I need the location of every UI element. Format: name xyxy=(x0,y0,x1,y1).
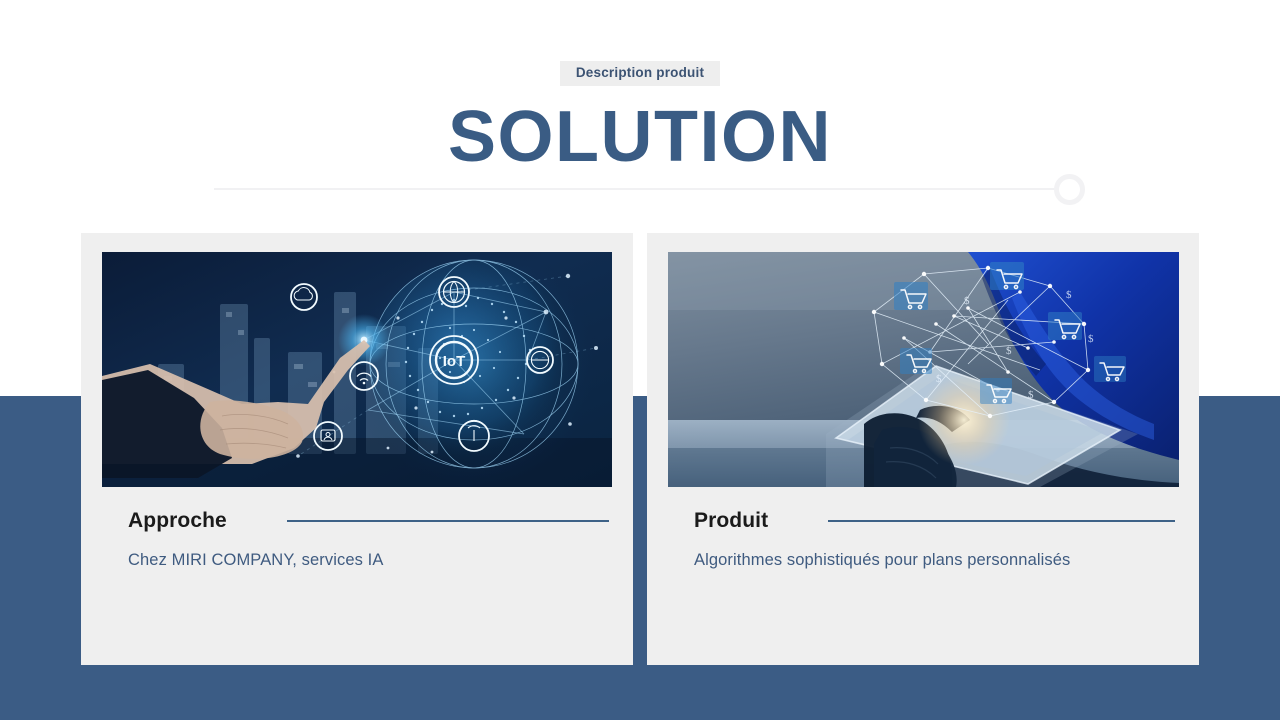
card-image-iot-globe: IoT xyxy=(102,252,612,487)
svg-text:IoT: IoT xyxy=(443,353,466,370)
card-approche[interactable]: IoT xyxy=(81,233,633,665)
iot-globe-illustration: IoT xyxy=(102,252,612,487)
card-body-produit: Produit Algorithmes sophistiqués pour pl… xyxy=(694,509,1177,571)
eyebrow-container: Description produit xyxy=(0,61,1280,86)
card-body-approche: Approche Chez MIRI COMPANY, services IA xyxy=(128,509,611,571)
svg-text:$: $ xyxy=(1028,389,1034,401)
slide-canvas: Description produit SOLUTION xyxy=(0,0,1280,720)
heading-rule xyxy=(828,520,1175,522)
card-heading-produit: Produit xyxy=(694,509,768,533)
svg-text:$: $ xyxy=(1066,289,1072,301)
svg-text:$: $ xyxy=(1006,345,1012,357)
tablet-network-illustration: $$ $$ $$ xyxy=(668,252,1179,487)
heading-rule xyxy=(287,520,609,522)
card-produit[interactable]: $$ $$ $$ Produit Algorithmes sophistiqué… xyxy=(647,233,1199,665)
card-subtitle-produit: Algorithmes sophistiqués pour plans pers… xyxy=(694,550,1177,571)
card-heading-approche: Approche xyxy=(128,509,227,533)
card-subtitle-approche: Chez MIRI COMPANY, services IA xyxy=(128,550,611,571)
divider-ring-icon xyxy=(1054,174,1085,205)
svg-text:$: $ xyxy=(964,295,970,307)
eyebrow-badge: Description produit xyxy=(560,61,720,86)
svg-text:$: $ xyxy=(1088,333,1094,345)
card-heading-row: Approche xyxy=(128,509,611,533)
svg-text:$: $ xyxy=(936,373,942,385)
card-image-tablet-commerce: $$ $$ $$ xyxy=(668,252,1179,487)
card-heading-row: Produit xyxy=(694,509,1177,533)
page-title: SOLUTION xyxy=(0,100,1280,176)
title-divider-line xyxy=(214,188,1059,190)
